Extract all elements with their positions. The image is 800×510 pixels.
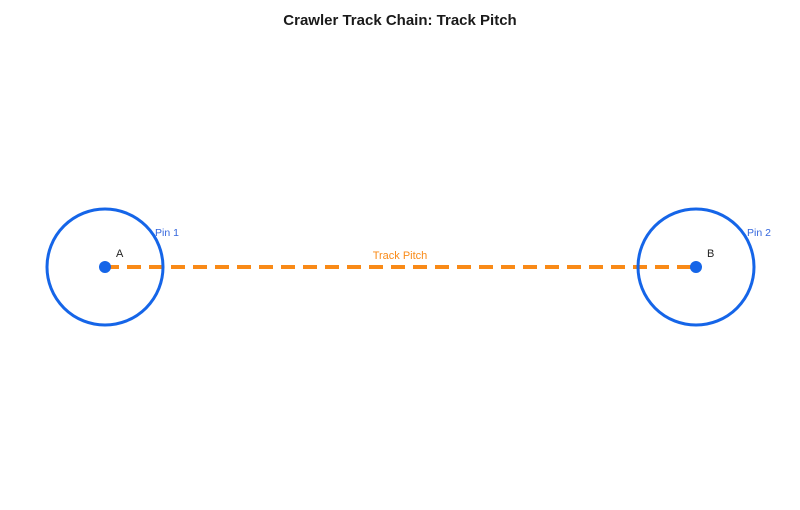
pin-1-center-dot[interactable] — [99, 261, 111, 273]
diagram-canvas: Crawler Track Chain: Track Pitch A B Pin… — [0, 0, 800, 510]
track-pitch-label: Track Pitch — [373, 250, 428, 262]
pin-2-center-label: B — [707, 248, 714, 260]
pin-1-center-label: A — [116, 248, 124, 260]
pin-1-name-label: Pin 1 — [155, 227, 179, 239]
pin-2-name-label: Pin 2 — [747, 227, 771, 239]
pin-2-center-dot[interactable] — [690, 261, 702, 273]
crawler-track-chain-diagram: Crawler Track Chain: Track Pitch A B Pin… — [0, 0, 800, 510]
page-title: Crawler Track Chain: Track Pitch — [283, 12, 516, 29]
